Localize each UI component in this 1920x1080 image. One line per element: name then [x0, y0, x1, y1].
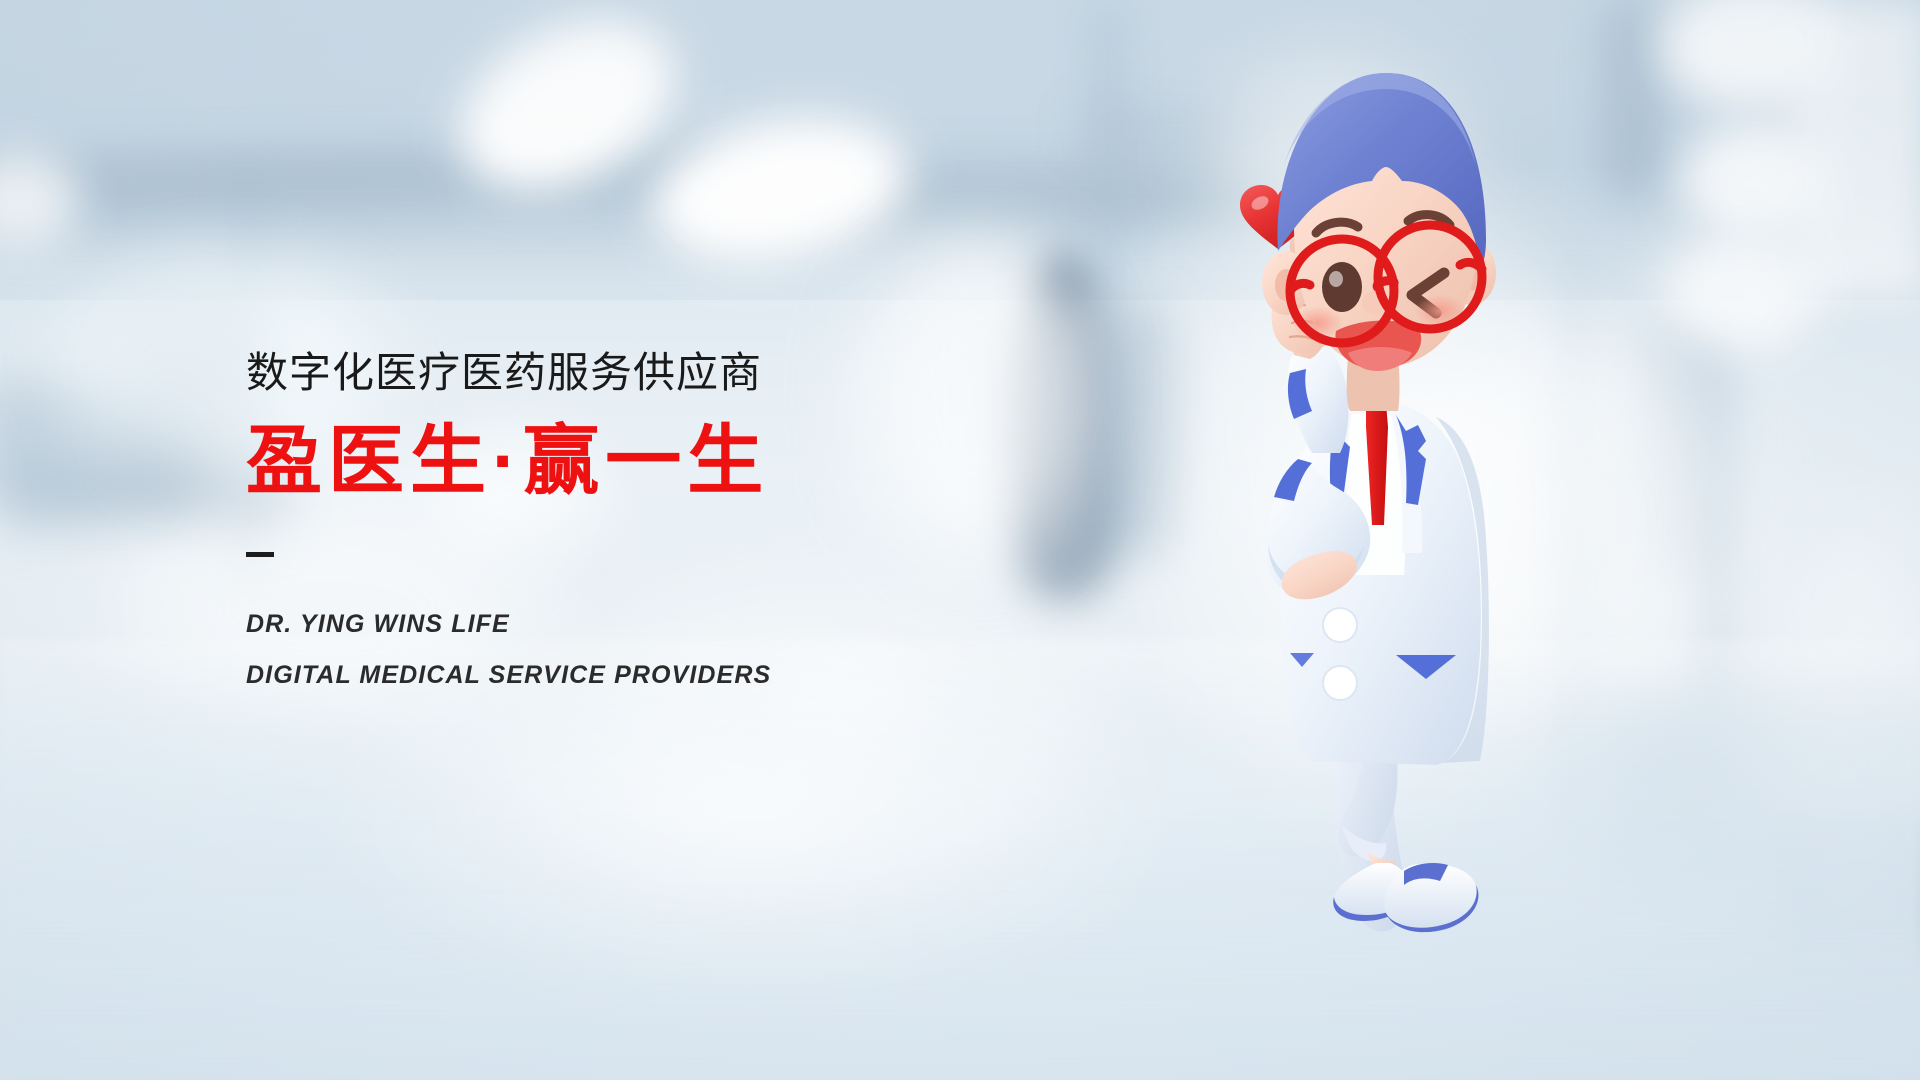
coat-button-top	[1323, 608, 1357, 642]
hero-english-line-1: DR. YING WINS LIFE	[246, 605, 1146, 644]
hero-divider	[246, 552, 274, 557]
hero-headline: 盈医生·赢一生	[246, 424, 1146, 500]
eye-left	[1322, 262, 1362, 312]
hero-banner: 数字化医疗医药服务供应商 盈医生·赢一生 DR. YING WINS LIFE …	[0, 0, 1920, 1080]
eye-left-highlight	[1329, 271, 1343, 287]
hero-copy: 数字化医疗医药服务供应商 盈医生·赢一生 DR. YING WINS LIFE …	[246, 352, 1146, 695]
doctor-mascot-illustration	[1190, 55, 1610, 1055]
hero-kicker: 数字化医疗医药服务供应商	[246, 352, 1146, 394]
head	[1262, 73, 1496, 371]
hero-english-line-2: DIGITAL MEDICAL SERVICE PROVIDERS	[246, 656, 1146, 695]
coat-button-bottom	[1323, 666, 1357, 700]
